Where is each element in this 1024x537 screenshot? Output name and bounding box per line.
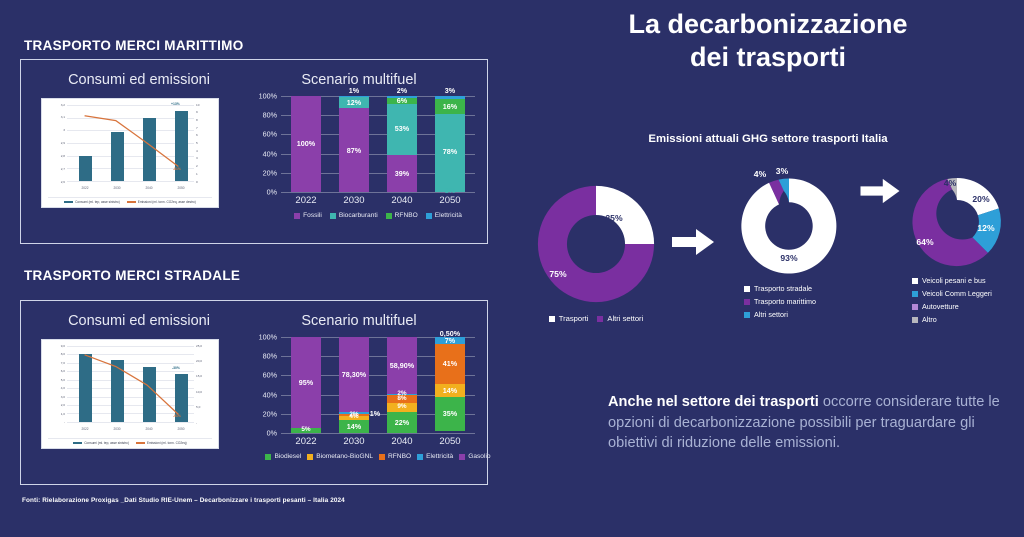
plot-area: 95% 5% 78,30% 2% 4% 14% 58,90% 2% bbox=[281, 337, 475, 433]
legend-item: Altro bbox=[912, 315, 992, 324]
xtick: 2030 bbox=[105, 427, 129, 431]
subtitle: Emissioni attuali GHG settore trasporti … bbox=[532, 133, 1004, 145]
ytick-left: 1,0 bbox=[61, 413, 65, 416]
donut-3-label-altro: 4% bbox=[944, 178, 956, 188]
xtick: 2050 bbox=[169, 186, 193, 190]
ytick-right: 25,0 bbox=[196, 345, 202, 348]
chart-road-scenario: 100% 80% 60% 40% 20% 0% 95% 5% bbox=[253, 337, 475, 465]
ytick-left: 2,0 bbox=[61, 404, 65, 407]
page-title: La decarbonizzazione dei trasporti bbox=[542, 8, 994, 74]
xtick: 2022 bbox=[73, 427, 97, 431]
ytick-left: 2,7 bbox=[61, 168, 65, 171]
segment-rfnbo: 8% bbox=[387, 395, 417, 403]
segment-biocarburanti: 78% bbox=[435, 114, 465, 189]
annotation-emissioni: -81% bbox=[173, 167, 181, 171]
chart-maritime-scenario: 100% 80% 60% 40% 20% 0% 100% bbox=[253, 96, 475, 224]
legend-item: Gasolio bbox=[459, 453, 490, 460]
section-title-road: TRASPORTO MERCI STRADALE bbox=[24, 268, 240, 283]
ytick-right: 8 bbox=[196, 119, 198, 122]
x-axis-labels: 2022 2030 2040 2050 bbox=[281, 436, 475, 450]
ytick-left: 2,6 bbox=[61, 181, 65, 184]
y-axis: 100% 80% 60% 40% 20% 0% bbox=[253, 96, 279, 192]
ytick-left: 2,8 bbox=[61, 155, 65, 158]
annotation-consumi: -30% bbox=[172, 366, 180, 370]
donut-3-label-pesanti: 20% bbox=[972, 194, 989, 204]
segment-biometano: 14% bbox=[435, 384, 465, 397]
segment-elettricita: 7% bbox=[435, 337, 465, 344]
xtick: 2050 bbox=[428, 436, 472, 447]
ytick: 60% bbox=[263, 130, 277, 139]
legend-item: Biodiesel bbox=[265, 453, 301, 460]
legend-item: Veicoli pesani e bus bbox=[912, 276, 992, 285]
ytick: 100% bbox=[259, 92, 277, 101]
stack-column-2022: 95% 5% bbox=[291, 337, 321, 433]
body-paragraph: Anche nel settore dei trasporti occorre … bbox=[608, 392, 1008, 454]
chart-legend: Biodiesel Biometano-BioGNL RFNBO Elettri… bbox=[281, 453, 475, 460]
donut-3-legend: Veicoli pesani e bus Veicoli Comm Legger… bbox=[912, 276, 992, 324]
donut-2-label-altri: 3% bbox=[776, 166, 788, 176]
chart-legend: Consumi (ml. tep, asse sinistro) Emissio… bbox=[48, 438, 212, 445]
ytick-right: 6 bbox=[196, 134, 198, 137]
ytick-left: 3,0 bbox=[61, 396, 65, 399]
xtick: 2050 bbox=[428, 195, 472, 206]
stack-column-2050: 16% 78% 3% bbox=[435, 96, 465, 192]
legend-item: Veicoli Comm Leggeri bbox=[912, 289, 992, 298]
segment-gasolio: 78,30% bbox=[339, 337, 369, 412]
ytick-left: 6,0 bbox=[61, 370, 65, 373]
donut-row: 25% 75% Trasporti Altri settori bbox=[512, 160, 1024, 340]
legend-item: Trasporto marittimo bbox=[744, 297, 816, 306]
segment-gasolio: 58,90% bbox=[387, 337, 417, 394]
chart-title-maritime-consumi: Consumi ed emissioni bbox=[39, 72, 239, 88]
xtick: 2030 bbox=[332, 195, 376, 206]
xtick: 2050 bbox=[169, 427, 193, 431]
chart-donut-3: 20% 12% 64% 4% Veicoli pesani e bus Veic… bbox=[902, 172, 1020, 272]
ytick-right: 20,0 bbox=[196, 360, 202, 363]
xtick: 2022 bbox=[73, 186, 97, 190]
xtick: 2022 bbox=[284, 436, 328, 447]
ytick-left: 8,0 bbox=[61, 353, 65, 356]
segment-rfnbo: 16% bbox=[435, 99, 465, 114]
segment-biodiesel: 35% bbox=[435, 397, 465, 431]
title-line-2: dei trasporti bbox=[542, 41, 994, 74]
ytick-right: 5 bbox=[196, 142, 198, 145]
body-text-highlight: Anche nel settore dei trasporti bbox=[608, 394, 819, 410]
segment-biometano: 9% bbox=[387, 403, 417, 412]
x-axis-labels: 2022 2030 2040 2050 bbox=[281, 195, 475, 209]
ytick-left: 9,0 bbox=[61, 345, 65, 348]
ytick-left: 3,2 bbox=[61, 104, 65, 107]
donut-2-label-stradale: 93% bbox=[780, 253, 797, 263]
plot-area: 100% 12% 87% 6% 53% 39% bbox=[281, 96, 475, 192]
ytick-right: 2 bbox=[196, 165, 198, 168]
stack-column-2040: 6% 53% 39% bbox=[387, 96, 417, 192]
ytick: 80% bbox=[263, 352, 277, 361]
ytick-right: 0 bbox=[196, 181, 198, 184]
stack-column-2050: 7% 41% 14% 35% bbox=[435, 337, 465, 433]
chart-maritime-consumi: 3,2 3,1 3 2,9 2,8 2,7 2,6 10 9 8 7 6 5 4… bbox=[41, 98, 219, 208]
segment-fossili: 100% bbox=[291, 96, 321, 192]
segment-rfnbo: 41% bbox=[435, 344, 465, 383]
stack-column-2030: 12% 87% bbox=[339, 96, 369, 192]
chart-title-road-consumi: Consumi ed emissioni bbox=[39, 313, 239, 329]
segment-biodiesel: 5% bbox=[291, 428, 321, 433]
legend-item: Elettricità bbox=[426, 212, 462, 219]
outside-label-2040: 2% bbox=[397, 86, 407, 95]
stack-column-2040: 58,90% 2% 8% 9% 22% bbox=[387, 337, 417, 433]
ytick-left: 7,0 bbox=[61, 362, 65, 365]
chart-road-consumi: 9,0 8,0 7,0 6,0 5,0 4,0 3,0 2,0 1,0 - 25… bbox=[41, 339, 219, 449]
segment-biodiesel: 22% bbox=[387, 412, 417, 433]
legend-item: Emissioni (ml. tonn. CO2eq, asse destro) bbox=[127, 200, 196, 204]
slide: TRASPORTO MERCI MARITTIMO Consumi ed emi… bbox=[0, 0, 1024, 537]
annotation-emissioni: -91% bbox=[173, 414, 181, 418]
xtick: 2030 bbox=[332, 436, 376, 447]
legend-item: Biometano-BioGNL bbox=[307, 453, 373, 460]
legend-item: Autovetture bbox=[912, 302, 992, 311]
ytick-left: 5,0 bbox=[61, 379, 65, 382]
donut-1-legend: Trasporti Altri settori bbox=[520, 314, 672, 323]
ytick-right: 9 bbox=[196, 111, 198, 114]
footer-sources: Fonti: Rielaborazione Proxigas _Dati Stu… bbox=[22, 497, 345, 504]
donut-2-legend: Trasporto stradale Trasporto marittimo A… bbox=[744, 284, 816, 319]
donut-1-label-altri: 75% bbox=[549, 269, 566, 279]
xtick: 2040 bbox=[137, 427, 161, 431]
outside-label-2030: 1% bbox=[349, 86, 359, 95]
right-column: La decarbonizzazione dei trasporti Emiss… bbox=[512, 0, 1024, 537]
ytick-left: 3 bbox=[63, 129, 65, 132]
chart-legend: Consumi (ml. tep, asse sinistro) Emissio… bbox=[48, 197, 212, 204]
ytick-right: - bbox=[196, 422, 197, 425]
outside-label-2030-elettricita: 1% bbox=[370, 409, 380, 418]
outside-label-2050: 3% bbox=[445, 86, 455, 95]
legend-item: Altri settori bbox=[597, 314, 643, 323]
ytick-left: - bbox=[64, 421, 65, 424]
legend-item: Consumi (ml. tep, asse sinistro) bbox=[73, 441, 129, 445]
ytick: 20% bbox=[263, 168, 277, 177]
ytick-left: 3,1 bbox=[61, 116, 65, 119]
donut-1-label-trasporti: 25% bbox=[605, 213, 622, 223]
ytick-left: 4,0 bbox=[61, 387, 65, 390]
ytick-right: 15,0 bbox=[196, 375, 202, 378]
legend-item: Trasporti bbox=[549, 314, 589, 323]
ytick-right: 10 bbox=[196, 104, 199, 107]
section-title-maritime: TRASPORTO MERCI MARITTIMO bbox=[24, 38, 244, 53]
left-column: TRASPORTO MERCI MARITTIMO Consumi ed emi… bbox=[0, 0, 512, 537]
ytick-right: 10,0 bbox=[196, 391, 202, 394]
ytick: 60% bbox=[263, 371, 277, 380]
ytick-right: 4 bbox=[196, 150, 198, 153]
legend-item: RFNBO bbox=[386, 212, 418, 219]
segment-biocarburanti: 53% bbox=[387, 104, 417, 155]
legend-item: Altri settori bbox=[744, 310, 816, 319]
panel-maritime: Consumi ed emissioni Scenario multifuel … bbox=[20, 59, 488, 244]
segment-gasolio: 95% bbox=[291, 337, 321, 428]
outside-label-2050-gasolio: 0,50% bbox=[440, 329, 460, 338]
ytick: 0% bbox=[267, 188, 277, 197]
legend-item: Fossili bbox=[294, 212, 322, 219]
legend-item: Biocarburanti bbox=[330, 212, 378, 219]
segment-bottom-label: 3% bbox=[435, 189, 465, 192]
donut-2-label-marittimo: 4% bbox=[754, 169, 766, 179]
ytick-left: 2,9 bbox=[61, 142, 65, 145]
arrow-icon-2 bbox=[860, 178, 900, 209]
emissions-line bbox=[67, 346, 194, 421]
chart-donut-1: 25% 75% Trasporti Altri settori bbox=[520, 178, 672, 310]
ytick-right: 3 bbox=[196, 157, 198, 160]
chart-title-road-scenario: Scenario multifuel bbox=[249, 313, 469, 329]
legend-item: Elettricità bbox=[417, 453, 453, 460]
xtick: 2040 bbox=[380, 436, 424, 447]
segment-fossili: 87% bbox=[339, 108, 369, 192]
xtick: 2040 bbox=[380, 195, 424, 206]
ytick: 40% bbox=[263, 149, 277, 158]
segment-biodiesel: 14% bbox=[339, 420, 369, 433]
ytick-right: 7 bbox=[196, 127, 198, 130]
segment-fossili: 39% bbox=[387, 155, 417, 192]
xtick: 2022 bbox=[284, 195, 328, 206]
legend-item: RFNBO bbox=[379, 453, 411, 460]
ytick-right: 5,0 bbox=[196, 406, 200, 409]
ytick: 20% bbox=[263, 409, 277, 418]
ytick: 0% bbox=[267, 429, 277, 438]
ytick: 100% bbox=[259, 333, 277, 342]
segment-biocarburanti: 12% bbox=[339, 97, 369, 109]
ytick: 80% bbox=[263, 111, 277, 120]
xtick: 2040 bbox=[137, 186, 161, 190]
stack-column-2030: 78,30% 2% 4% 14% bbox=[339, 337, 369, 433]
ytick-right: 1 bbox=[196, 173, 198, 176]
y-axis: 100% 80% 60% 40% 20% 0% bbox=[253, 337, 279, 433]
title-line-1: La decarbonizzazione bbox=[542, 8, 994, 41]
chart-legend: Fossili Biocarburanti RFNBO Elettricità bbox=[281, 212, 475, 219]
ytick: 40% bbox=[263, 390, 277, 399]
xtick: 2030 bbox=[105, 186, 129, 190]
legend-item: Consumi (ml. tep, asse sinistro) bbox=[64, 200, 120, 204]
legend-item: Trasporto stradale bbox=[744, 284, 816, 293]
arrow-icon-1 bbox=[672, 228, 714, 261]
donut-3-label-leggeri: 12% bbox=[977, 223, 994, 233]
annotation-consumi: +13% bbox=[171, 102, 180, 106]
chart-donut-2: 93% 4% 3% Trasporto stradale Trasporto m… bbox=[730, 172, 850, 280]
panel-road: Consumi ed emissioni Scenario multifuel … bbox=[20, 300, 488, 485]
donut-3-label-autovetture: 64% bbox=[916, 237, 933, 247]
legend-item: Emissioni (ml. tonn. CO2eq) bbox=[136, 441, 187, 445]
stack-column-2022: 100% bbox=[291, 96, 321, 192]
